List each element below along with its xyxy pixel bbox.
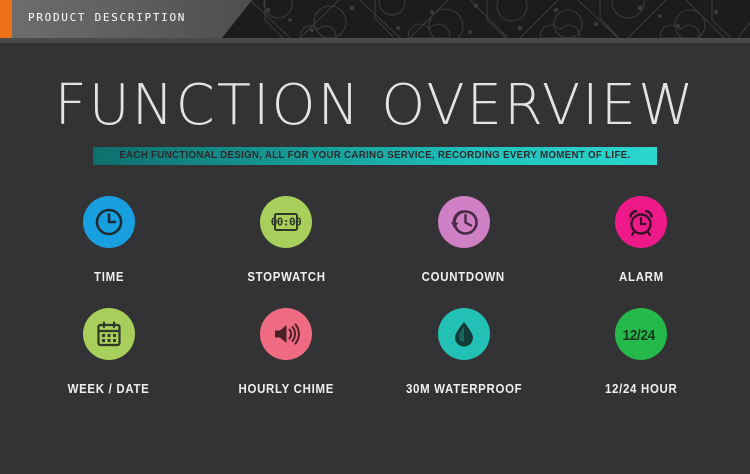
week-date-badge (83, 308, 135, 360)
alarm-clock-icon (624, 205, 658, 239)
subtitle-text: EACH FUNCTIONAL DESIGN, ALL FOR YOUR CAR… (119, 150, 630, 161)
feature-item-week-date[interactable]: WEEK / DATE (20, 308, 198, 420)
header-divider (0, 38, 750, 43)
digital-timer-icon: 00:00 (269, 205, 303, 239)
subtitle-highlight-bar: EACH FUNCTIONAL DESIGN, ALL FOR YOUR CAR… (93, 147, 657, 165)
feature-item-hourly-chime[interactable]: HOURLY CHIME (198, 308, 376, 420)
subtitle-container: EACH FUNCTIONAL DESIGN, ALL FOR YOUR CAR… (0, 145, 750, 165)
feature-label: WEEK / DATE (68, 381, 150, 396)
feature-label: ALARM (619, 269, 664, 284)
product-description-page: PRODUCT DESCRIPTION FUNCTION OVERVIEW EA… (0, 0, 750, 474)
stopwatch-badge: 00:00 (260, 196, 312, 248)
countdown-badge (438, 196, 490, 248)
time-badge (83, 196, 135, 248)
feature-item-hour-format[interactable]: 12/24 12/24 HOUR (553, 308, 731, 420)
feature-label: 30M WATERPROOF (406, 381, 522, 396)
feature-item-stopwatch[interactable]: 00:00 STOPWATCH (198, 196, 376, 308)
water-drop-icon (447, 317, 481, 351)
feature-label: COUNTDOWN (422, 269, 505, 284)
svg-text:12/24: 12/24 (623, 327, 656, 344)
orange-accent-bar (0, 0, 12, 38)
hour-format-badge: 12/24 (615, 308, 667, 360)
clock-reverse-icon (446, 204, 482, 240)
feature-item-countdown[interactable]: COUNTDOWN (375, 196, 553, 308)
calendar-icon (92, 317, 126, 351)
feature-item-alarm[interactable]: ALARM (553, 196, 731, 308)
speaker-sound-icon (269, 317, 303, 351)
feature-item-waterproof[interactable]: 30M WATERPROOF (375, 308, 553, 420)
waterproof-badge (438, 308, 490, 360)
clock-icon (92, 205, 126, 239)
feature-label: 12/24 HOUR (605, 381, 678, 396)
header-tab-label: PRODUCT DESCRIPTION (28, 11, 186, 24)
feature-label: HOURLY CHIME (238, 381, 334, 396)
svg-text:00:00: 00:00 (271, 216, 302, 229)
feature-grid: TIME 00:00 STOPWATCH COUNTD (20, 196, 730, 420)
header-band: PRODUCT DESCRIPTION (0, 0, 750, 38)
hour-format-icon: 12/24 (619, 317, 663, 351)
hourly-chime-badge (260, 308, 312, 360)
feature-label: STOPWATCH (247, 269, 325, 284)
page-title: FUNCTION OVERVIEW (0, 78, 750, 134)
feature-item-time[interactable]: TIME (20, 196, 198, 308)
feature-label: TIME (94, 269, 124, 284)
alarm-badge (615, 196, 667, 248)
